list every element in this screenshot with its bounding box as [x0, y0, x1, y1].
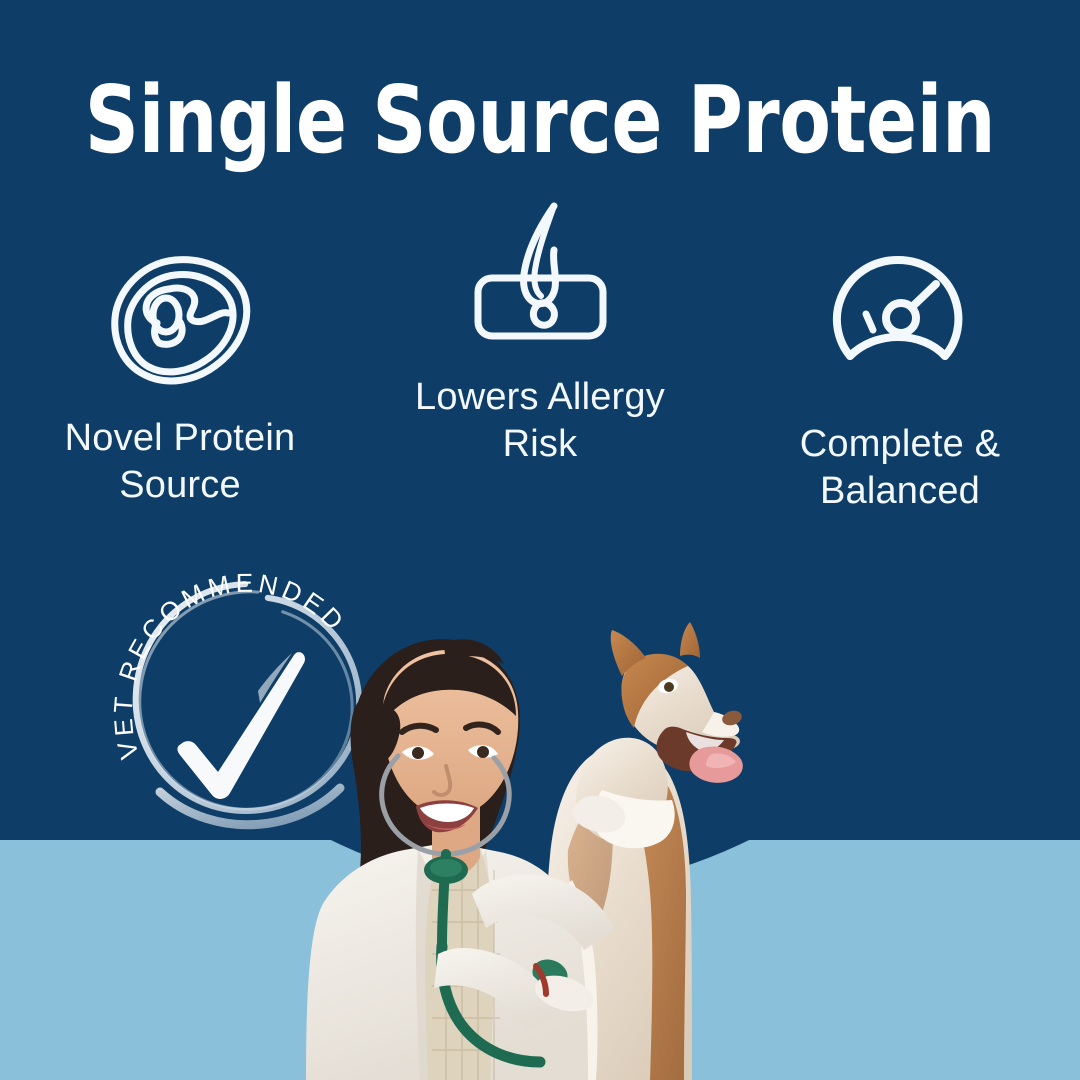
feature-novel-protein-source[interactable]: Novel Protein Source — [0, 200, 360, 520]
feature-lowers-allergy-risk[interactable]: Lowers Allergy Risk — [360, 200, 720, 520]
feature-label: Lowers Allergy Risk — [415, 374, 665, 468]
promo-canvas: Single Source Protein Novel Protein Sour… — [0, 0, 1080, 1080]
feature-label: Novel Protein Source — [65, 415, 296, 509]
page-title: Single Source Protein — [54, 74, 1026, 167]
feature-row: Novel Protein Source Lowers Allergy Risk — [0, 200, 1080, 520]
gauge-meter-icon — [825, 252, 975, 397]
hair-follicle-skin-icon — [458, 200, 623, 360]
feature-label: Complete & Balanced — [800, 421, 1001, 515]
steak-icon — [105, 248, 255, 393]
feature-complete-and-balanced[interactable]: Complete & Balanced — [720, 200, 1080, 520]
veterinarian-with-husky-dog-photo — [250, 550, 820, 1080]
